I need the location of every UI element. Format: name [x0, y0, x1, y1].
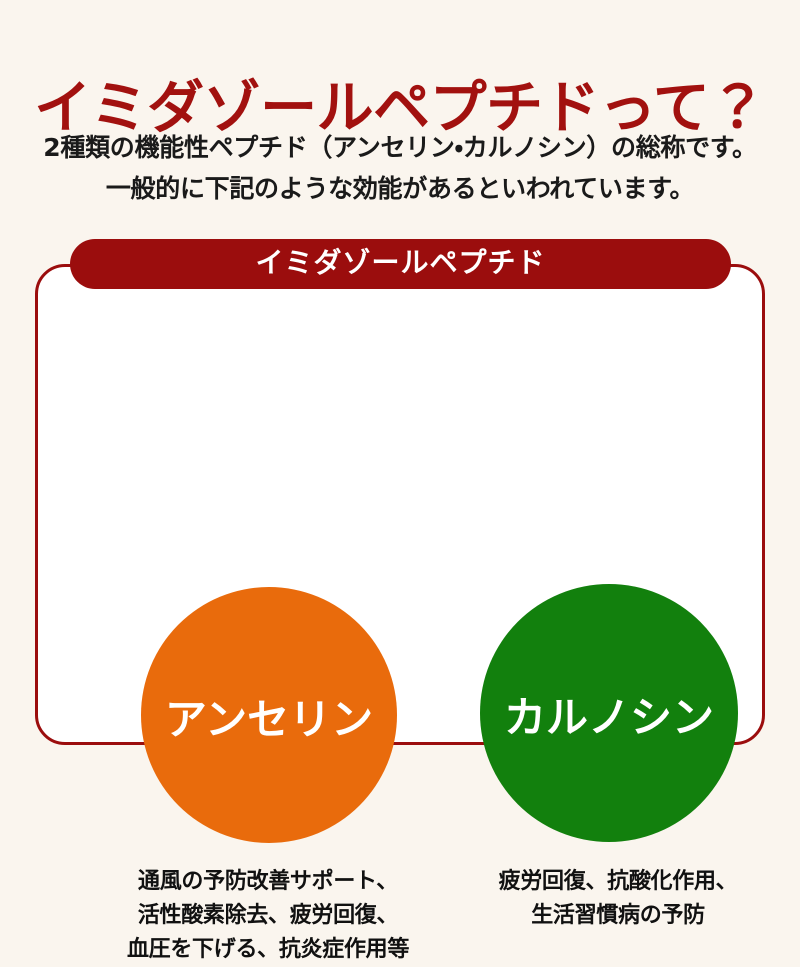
carnosine-circle-label: カルノシン — [504, 697, 714, 739]
banner-label: イミダゾールペプチド — [255, 249, 545, 277]
anserine-effect-line-3: 血圧を下げる、抗炎症作用等 — [98, 933, 438, 967]
infographic-poster: イミダゾールペプチドって？ 2種類の機能性ペプチド（アンセリン・カルノシン）の総… — [0, 0, 800, 800]
anserine-effects-list: 通風の予防改善サポート、 活性酸素除去、疲労回復、 血圧を下げる、抗炎症作用等 — [98, 865, 438, 967]
imidazole-peptide-banner: イミダゾールペプチド — [70, 239, 731, 289]
anserine-effect-line-2: 活性酸素除去、疲労回復、 — [98, 899, 438, 933]
imidazole-peptide-card: アンセリン カルノシン 通風の予防改善サポート、 活性酸素除去、疲労回復、 血圧… — [35, 264, 765, 745]
anserine-circle: アンセリン — [141, 587, 397, 843]
carnosine-effects-list: 疲労回復、抗酸化作用、 生活習慣病の予防 — [448, 865, 788, 933]
anserine-circle-label: アンセリン — [165, 699, 373, 741]
subtitle-line-2: 一般的に下記のような効能があるといわれています。 — [0, 169, 800, 210]
carnosine-effect-line-2: 生活習慣病の予防 — [448, 899, 788, 933]
subtitle-line-1: 2種類の機能性ペプチド（アンセリン・カルノシン）の総称です。 — [43, 133, 756, 162]
anserine-effect-line-1: 通風の予防改善サポート、 — [98, 865, 438, 899]
carnosine-effect-line-1: 疲労回復、抗酸化作用、 — [448, 865, 788, 899]
subtitle-block: 2種類の機能性ペプチド（アンセリン・カルノシン）の総称です。 一般的に下記のよう… — [0, 128, 800, 209]
carnosine-circle: カルノシン — [480, 584, 738, 842]
